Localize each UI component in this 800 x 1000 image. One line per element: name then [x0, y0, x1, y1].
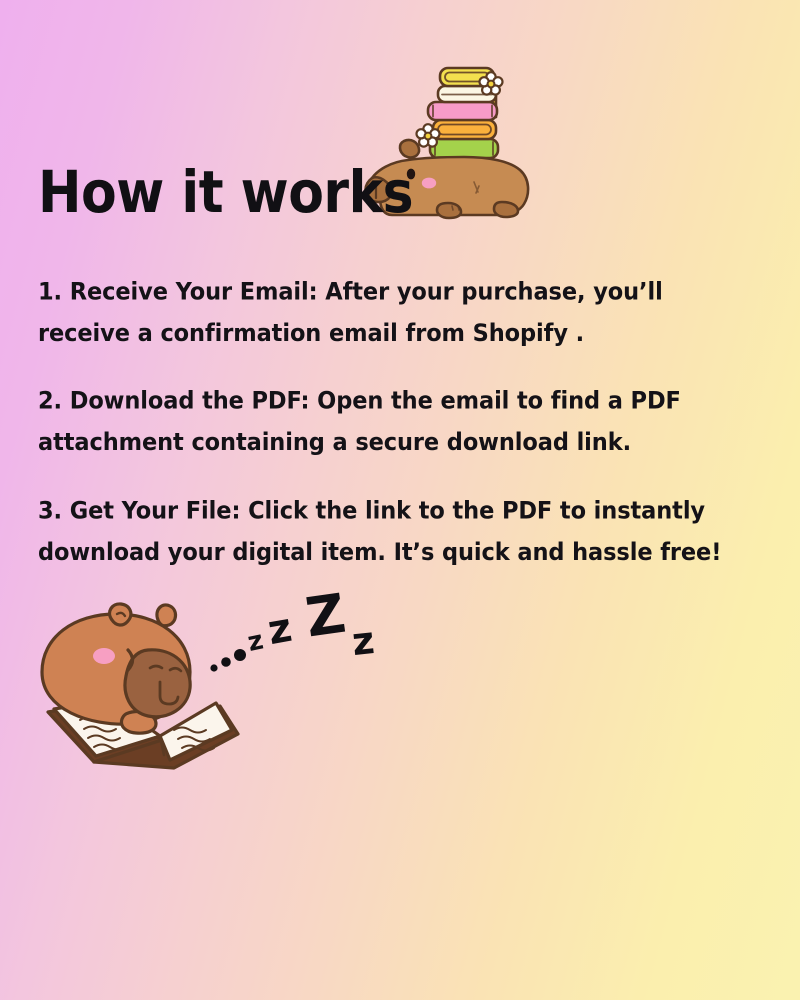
- sleep-dot-3: [234, 649, 246, 661]
- sleep-z-small: z: [245, 625, 266, 657]
- sleep-dot-2: [221, 657, 231, 667]
- book-orange: [433, 120, 496, 139]
- poster-canvas: How it works 1. Receive Your Email: Afte…: [0, 0, 800, 1000]
- capybara-sleeping-blush: [93, 648, 115, 664]
- book-pink: [428, 102, 497, 120]
- sleep-z-large: Z: [302, 590, 350, 649]
- step-item-2: 2. Download the PDF: Open the email to f…: [38, 381, 762, 463]
- capybara-ear: [400, 140, 419, 157]
- book-green: [430, 139, 498, 158]
- steps-list: 1. Receive Your Email: After your purcha…: [38, 272, 762, 568]
- zzz-sleep-trail-illustration: z z Z z: [206, 590, 406, 689]
- capybara-sleeping-ear: [110, 604, 131, 625]
- sleep-z-trailing: z: [350, 618, 377, 664]
- capybara-blush: [422, 178, 436, 189]
- sleep-z-medium: z: [264, 605, 295, 654]
- capybara-sleeping-muzzle: [125, 650, 190, 717]
- step-item-3: 3. Get Your File: Click the link to the …: [38, 491, 762, 573]
- step-item-1: 1. Receive Your Email: After your purcha…: [38, 272, 762, 354]
- sleep-dot-1: [210, 664, 217, 671]
- page-title: How it works: [38, 164, 413, 222]
